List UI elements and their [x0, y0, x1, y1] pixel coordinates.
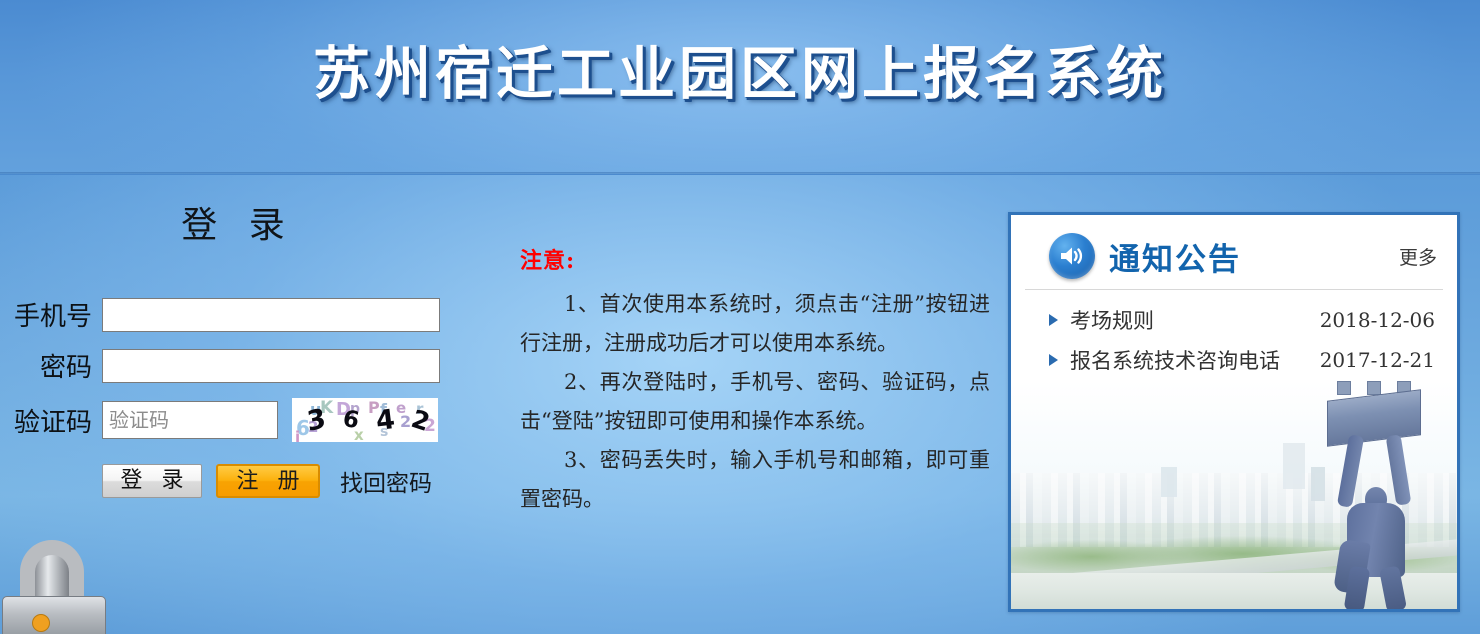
password-input[interactable] — [102, 349, 440, 383]
password-label: 密码 — [0, 347, 102, 384]
captcha-digit: 6 — [340, 406, 361, 435]
page-title: 苏州宿迁工业园区网上报名系统 — [0, 28, 1480, 110]
phone-row: 手机号 — [0, 296, 492, 333]
login-heading: 登 录 — [8, 196, 468, 248]
login-button[interactable]: 登 录 — [102, 464, 202, 498]
captcha-label: 验证码 — [0, 402, 102, 439]
padlock-body — [2, 596, 106, 634]
city-statue-photo — [1011, 381, 1457, 609]
announcement-item-title: 报名系统技术咨询电话 — [1070, 345, 1280, 375]
announcement-header: 通知公告 更多 — [1011, 215, 1457, 289]
statue-slab — [1327, 389, 1421, 447]
padlock-keyhole — [32, 614, 50, 632]
forgot-password-link[interactable]: 找回密码 — [340, 464, 432, 498]
announcement-list: 考场规则 2018-12-06 报名系统技术咨询电话 2017-12-21 — [1011, 290, 1457, 380]
captcha-digit: 3 — [305, 402, 328, 437]
photo-statue — [1321, 391, 1431, 609]
login-button-row: 登 录 注 册 找回密码 — [102, 464, 492, 498]
photo-building — [1161, 467, 1177, 497]
login-page: 苏州宿迁工业园区网上报名系统 登 录 手机号 密码 验证码 6 2 j u K … — [0, 0, 1480, 634]
notice-section: 注意: 1、首次使用本系统时，须点击“注册”按钮进行注册，注册成功后才可以使用本… — [520, 243, 990, 519]
statue-arm-left — [1337, 434, 1364, 508]
notice-paragraph: 3、密码丢失时，输入手机号和邮箱，即可重置密码。 — [520, 441, 990, 519]
padlock-icon — [2, 540, 110, 634]
captcha-digits: 3 6 4 2 — [298, 400, 438, 440]
phone-input[interactable] — [102, 298, 440, 332]
announcement-panel: 通知公告 更多 考场规则 2018-12-06 报名系统技术咨询电话 2017-… — [1008, 212, 1460, 612]
statue-arm-right — [1386, 434, 1412, 505]
notice-title: 注意: — [520, 243, 990, 275]
triangle-bullet-icon — [1049, 314, 1058, 326]
list-item[interactable]: 报名系统技术咨询电话 2017-12-21 — [1049, 340, 1435, 380]
notice-paragraph: 1、首次使用本系统时，须点击“注册”按钮进行注册，注册成功后才可以使用本系统。 — [520, 285, 990, 363]
password-row: 密码 — [0, 347, 492, 384]
captcha-image[interactable]: 6 2 j u K D p P f e r x s 2 2 3 6 4 2 — [292, 398, 438, 442]
captcha-input[interactable] — [102, 401, 278, 439]
announcement-title: 通知公告 — [1109, 234, 1241, 279]
announcement-item-date: 2018-12-06 — [1320, 308, 1435, 332]
captcha-digit: 4 — [374, 403, 396, 436]
login-form: 登 录 手机号 密码 验证码 6 2 j u K D p P f e r — [0, 196, 492, 536]
phone-label: 手机号 — [0, 296, 102, 333]
captcha-row: 验证码 6 2 j u K D p P f e r x s 2 2 3 6 — [0, 398, 492, 442]
announcement-more-link[interactable]: 更多 — [1399, 243, 1437, 270]
announcement-item-date: 2017-12-21 — [1320, 348, 1435, 372]
captcha-digit: 2 — [408, 404, 434, 437]
speaker-icon — [1049, 233, 1095, 279]
register-button[interactable]: 注 册 — [216, 464, 320, 498]
triangle-bullet-icon — [1049, 354, 1058, 366]
statue-nub — [1337, 381, 1351, 395]
notice-paragraph: 2、再次登陆时，手机号、密码、验证码，点击“登陆”按钮即可使用和操作本系统。 — [520, 363, 990, 441]
list-item[interactable]: 考场规则 2018-12-06 — [1049, 300, 1435, 340]
statue-nub — [1367, 381, 1381, 395]
announcement-item-title: 考场规则 — [1070, 305, 1154, 335]
photo-building — [1283, 443, 1305, 489]
